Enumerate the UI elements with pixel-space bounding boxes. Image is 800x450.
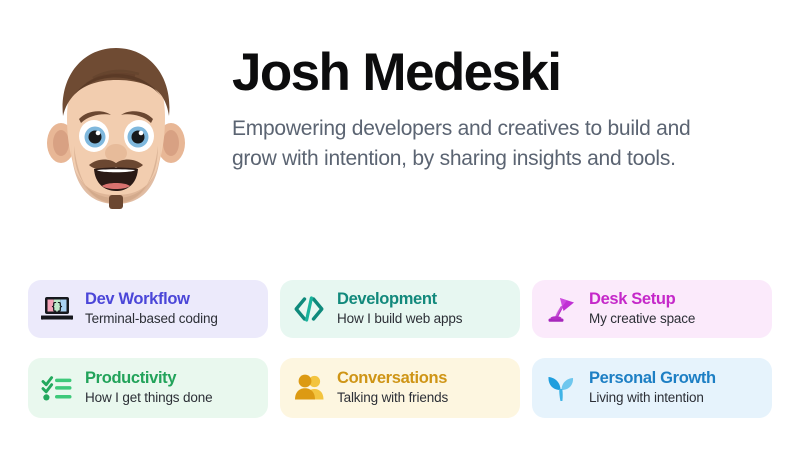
card-subtitle: Talking with friends <box>337 389 448 407</box>
card-development[interactable]: Development How I build web apps <box>280 280 520 338</box>
card-subtitle: My creative space <box>589 310 695 328</box>
checklist-icon <box>40 371 74 405</box>
hero-text: Josh Medeski Empowering developers and c… <box>232 18 800 175</box>
card-subtitle: Living with intention <box>589 389 716 407</box>
desk-lamp-icon <box>544 292 578 326</box>
people-icon <box>292 371 326 405</box>
avatar <box>0 18 232 238</box>
card-title: Desk Setup <box>589 290 695 309</box>
card-subtitle: How I build web apps <box>337 310 462 328</box>
card-conversations[interactable]: Conversations Talking with friends <box>280 358 520 418</box>
category-card-grid: {} Dev Workflow Terminal-based coding De… <box>28 280 772 418</box>
seedling-icon <box>544 371 578 405</box>
page-tagline: Empowering developers and creatives to b… <box>232 114 707 174</box>
card-title: Dev Workflow <box>85 290 218 309</box>
hero-section: Josh Medeski Empowering developers and c… <box>0 18 800 248</box>
svg-text:{}: {} <box>51 301 63 313</box>
laptop-code-icon: {} <box>40 292 74 326</box>
card-desk-setup[interactable]: Desk Setup My creative space <box>532 280 772 338</box>
card-subtitle: Terminal-based coding <box>85 310 218 328</box>
card-personal-growth[interactable]: Personal Growth Living with intention <box>532 358 772 418</box>
card-subtitle: How I get things done <box>85 389 212 407</box>
card-title: Development <box>337 290 462 309</box>
memoji-avatar-icon <box>27 36 205 226</box>
card-title: Conversations <box>337 369 448 388</box>
profile-page: Josh Medeski Empowering developers and c… <box>0 0 800 450</box>
card-dev-workflow[interactable]: {} Dev Workflow Terminal-based coding <box>28 280 268 338</box>
card-title: Personal Growth <box>589 369 716 388</box>
page-title: Josh Medeski <box>232 46 730 100</box>
code-brackets-icon <box>292 292 326 326</box>
card-title: Productivity <box>85 369 212 388</box>
card-productivity[interactable]: Productivity How I get things done <box>28 358 268 418</box>
